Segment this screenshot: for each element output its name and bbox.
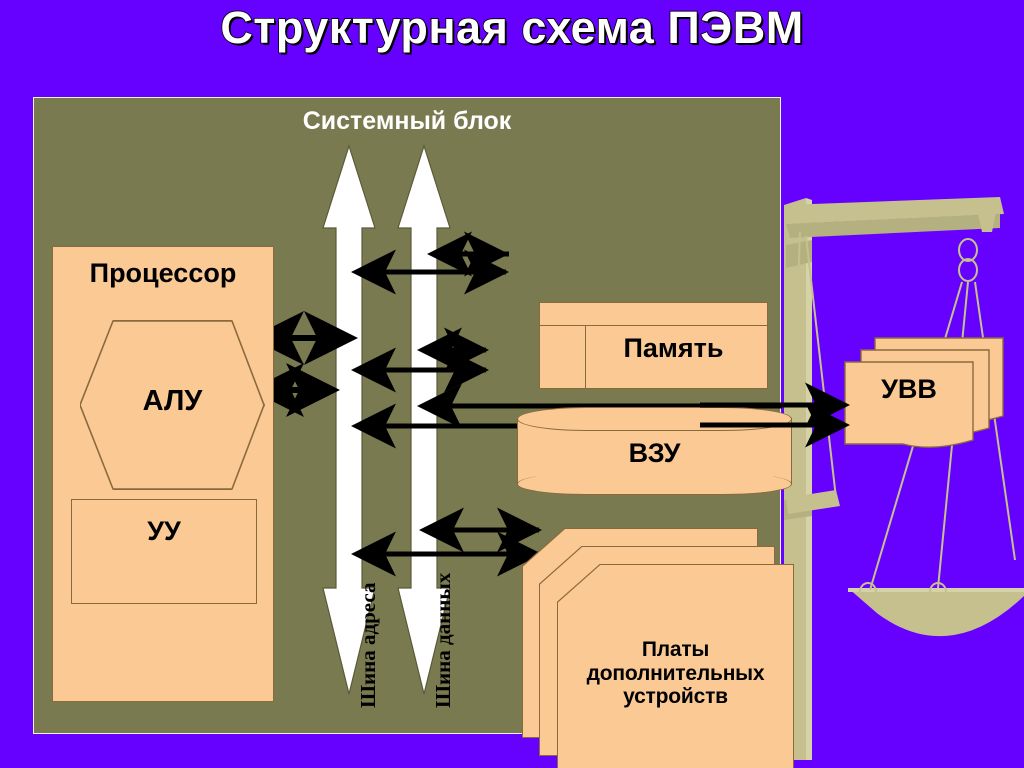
slide-canvas: Структурная схема ПЭВМ Системный блок xyxy=(0,0,1024,768)
io-connection-arrows xyxy=(0,0,1024,768)
page-title: Структурная схема ПЭВМ xyxy=(0,2,1024,54)
